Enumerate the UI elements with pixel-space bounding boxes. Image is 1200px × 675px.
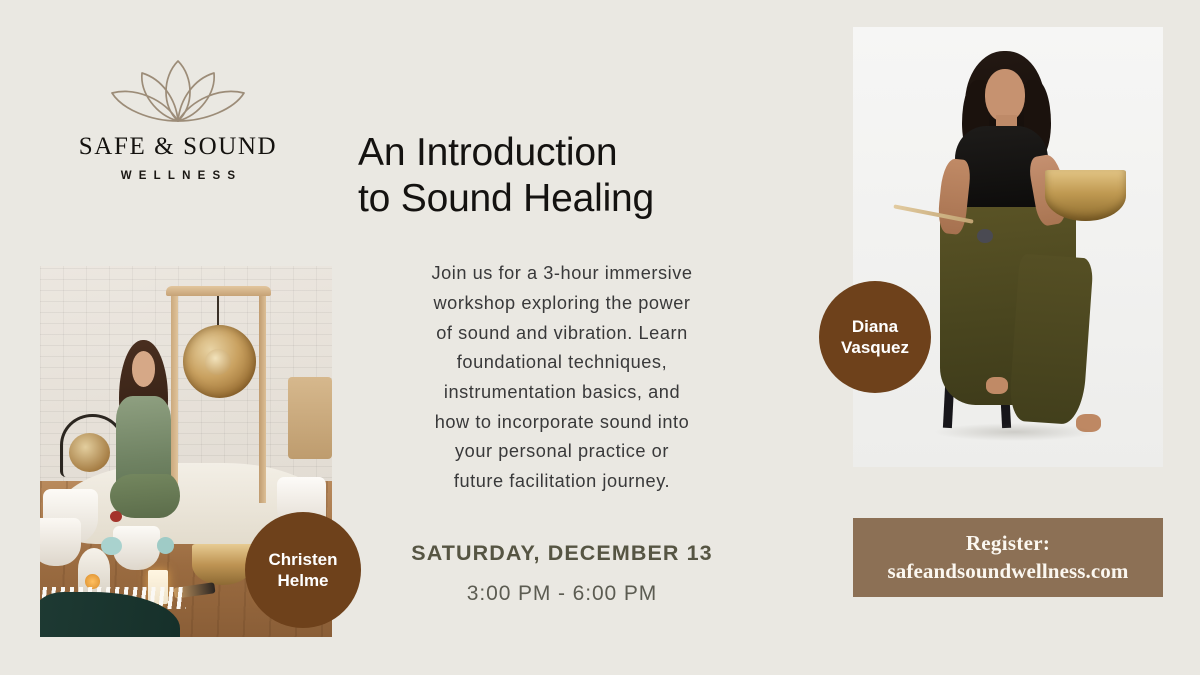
person-foot (986, 377, 1008, 395)
badge-diana-vasquez: Diana Vasquez (819, 281, 931, 393)
gong-stand-left-post (171, 288, 178, 503)
brand-logo: SAFE & SOUND WELLNESS (78, 55, 278, 182)
person-face (985, 69, 1025, 122)
gong-hanging-cord (217, 296, 219, 329)
register-label: Register: (966, 531, 1050, 556)
brass-singing-bowl (192, 544, 253, 585)
register-cta[interactable]: Register: safeandsoundwellness.com (853, 518, 1163, 597)
person-legs (110, 474, 180, 519)
event-time: 3:00 PM - 6:00 PM (358, 582, 766, 606)
red-sphere (110, 511, 122, 522)
badge-christen-helme: Christen Helme (245, 512, 361, 628)
logo-wordmark: SAFE & SOUND (78, 133, 278, 161)
teal-sphere (157, 537, 175, 554)
page-title: An Introduction to Sound Healing (358, 130, 766, 221)
lotus-flower-icon (98, 55, 258, 127)
photo-diana-vasquez (853, 27, 1163, 467)
gong-stand-right-post (259, 288, 266, 503)
person-olive-pants-leg (1008, 253, 1094, 425)
brass-singing-bowl (1045, 170, 1126, 221)
register-url[interactable]: safeandsoundwellness.com (887, 559, 1128, 584)
flyer-canvas: SAFE & SOUND WELLNESS An Introduction to… (0, 0, 1200, 675)
small-brass-gong (69, 433, 110, 472)
floor-shadow (934, 423, 1095, 441)
mallet-head (977, 229, 993, 243)
event-description: Join us for a 3-hour immersive workshop … (358, 259, 766, 496)
main-content-column: An Introduction to Sound Healing Join us… (358, 104, 766, 606)
logo-subtitle: WELLNESS (78, 170, 278, 182)
event-date: SATURDAY, DECEMBER 13 (358, 541, 766, 566)
wooden-chair (288, 377, 332, 459)
person-face (132, 351, 155, 386)
